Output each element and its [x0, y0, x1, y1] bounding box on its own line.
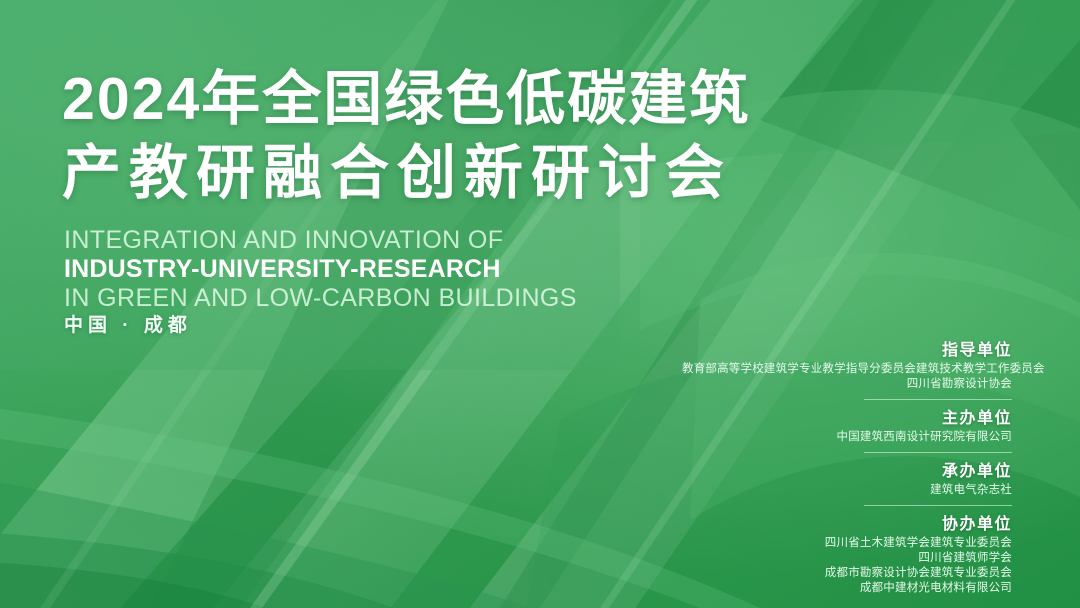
sponsor-group-guidance: 指导单位 教育部高等学校建筑学专业教学指导分委员会建筑技术教学工作委员会 四川省…	[682, 340, 1012, 392]
english-subtitle-line-2: INDUSTRY-UNIVERSITY-RESEARCH	[64, 255, 684, 284]
sponsor-heading: 主办单位	[682, 408, 1012, 430]
sponsor-item: 建筑电气杂志社	[682, 483, 1012, 498]
poster-content: 2024年全国绿色低碳建筑 产教研融合创新研讨会 INTEGRATION AND…	[0, 0, 1080, 608]
sponsor-item: 中国建筑西南设计研究院有限公司	[682, 430, 1012, 445]
sponsor-group-organizer: 承办单位 建筑电气杂志社	[682, 461, 1012, 498]
sponsor-item: 四川省勘察设计协会	[682, 377, 1012, 392]
sponsor-divider	[864, 452, 1012, 453]
sponsor-group-host: 主办单位 中国建筑西南设计研究院有限公司	[682, 408, 1012, 445]
sponsor-heading: 指导单位	[682, 340, 1012, 362]
sponsor-item: 成都中建材光电材料有限公司	[682, 581, 1012, 596]
sponsor-item: 四川省土木建筑学会建筑专业委员会	[682, 536, 1012, 551]
sponsor-heading: 协办单位	[682, 514, 1012, 536]
event-location: 中国 · 成都	[64, 310, 192, 337]
sponsor-list: 指导单位 教育部高等学校建筑学专业教学指导分委员会建筑技术教学工作委员会 四川省…	[682, 340, 1012, 598]
english-subtitle-line-1: INTEGRATION AND INNOVATION OF	[64, 226, 684, 255]
english-subtitle-line-3: IN GREEN AND LOW-CARBON BUILDINGS	[64, 284, 684, 313]
sponsor-heading: 承办单位	[682, 461, 1012, 483]
conference-poster: 2024年全国绿色低碳建筑 产教研融合创新研讨会 INTEGRATION AND…	[0, 0, 1080, 608]
sponsor-item: 教育部高等学校建筑学专业教学指导分委员会建筑技术教学工作委员会	[682, 362, 1012, 377]
page-title: 2024年全国绿色低碳建筑 产教研融合创新研讨会	[62, 62, 862, 210]
sponsor-item: 成都市勘察设计协会建筑专业委员会	[682, 566, 1012, 581]
sponsor-group-co-organizer: 协办单位 四川省土木建筑学会建筑专业委员会 四川省建筑师学会 成都市勘察设计协会…	[682, 514, 1012, 596]
title-line-1: 2024年全国绿色低碳建筑	[62, 62, 862, 136]
title-line-2: 产教研融合创新研讨会	[62, 136, 862, 210]
english-subtitle: INTEGRATION AND INNOVATION OF INDUSTRY-U…	[64, 226, 684, 313]
sponsor-divider	[864, 505, 1012, 506]
sponsor-divider	[864, 399, 1012, 400]
sponsor-item: 四川省建筑师学会	[682, 551, 1012, 566]
